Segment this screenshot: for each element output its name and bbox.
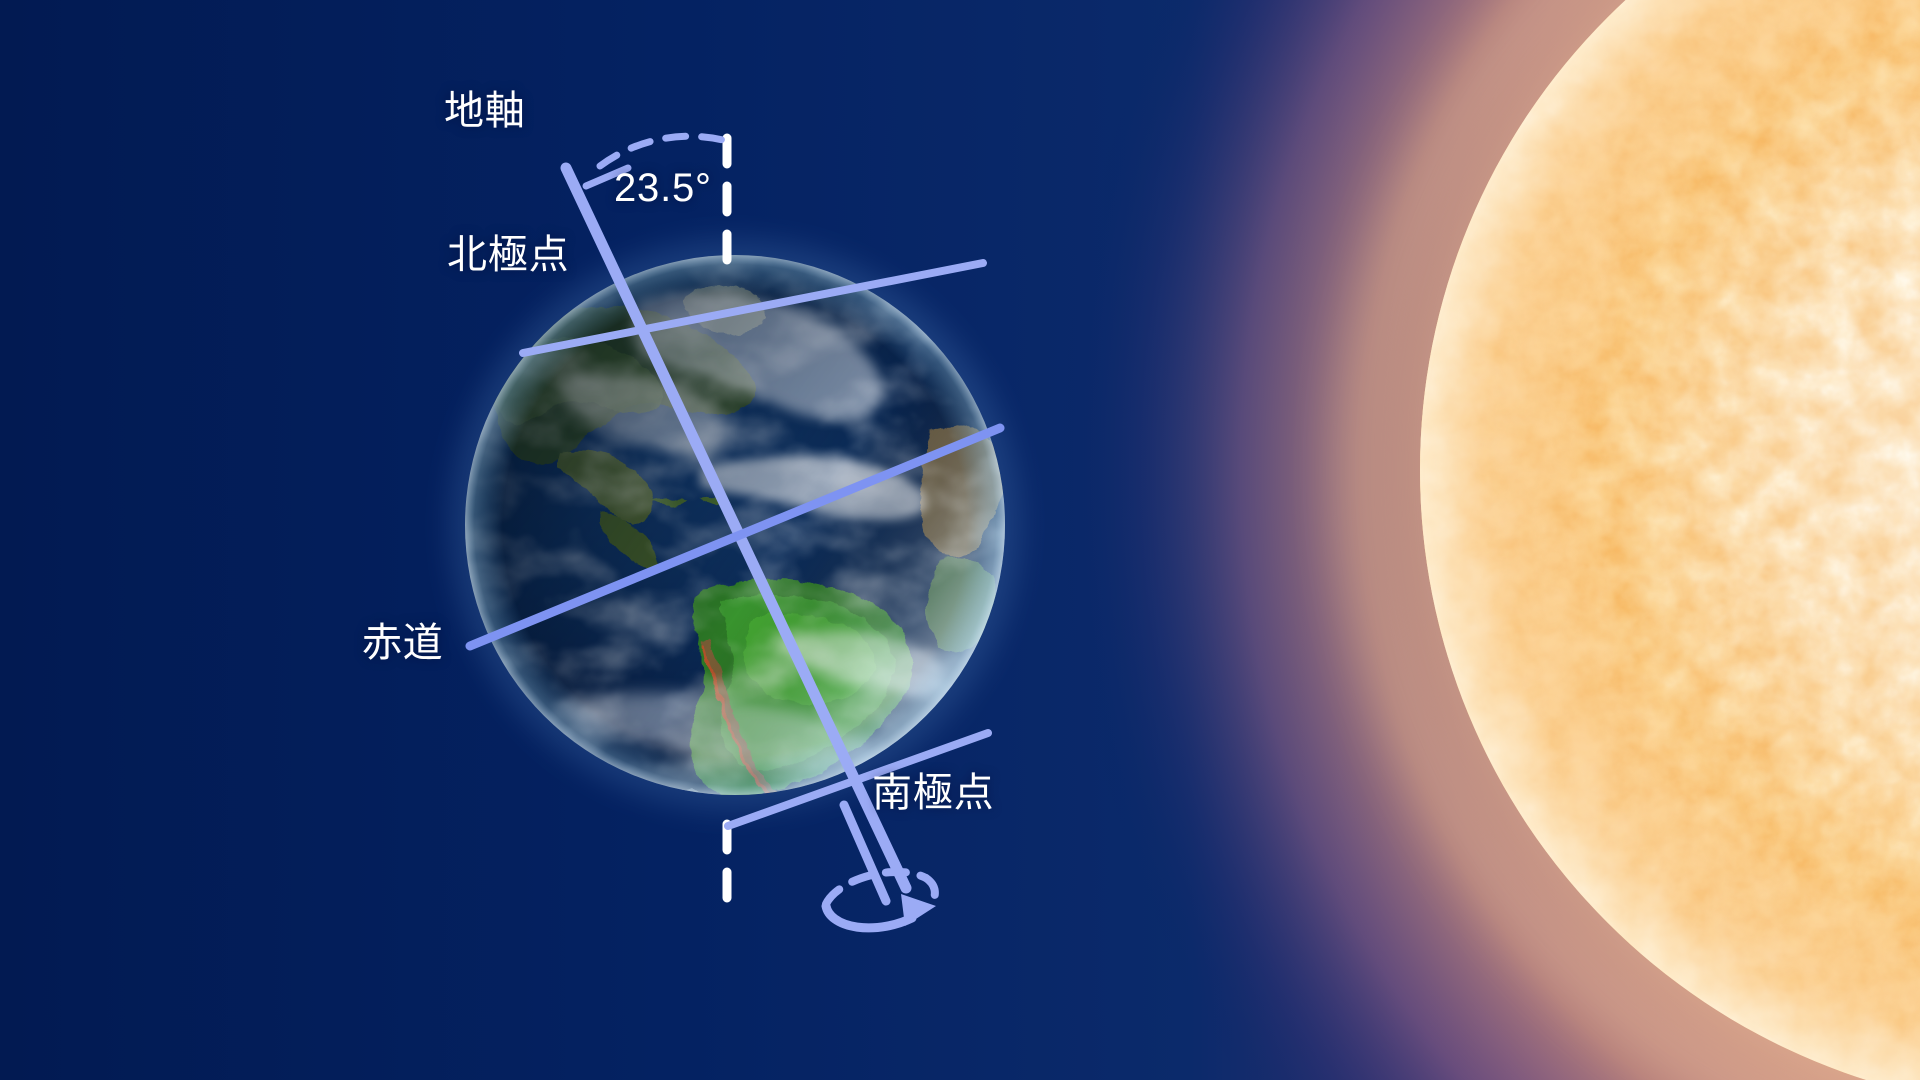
annotation-layer (0, 0, 1920, 1080)
label-south-pole: 南極点 (872, 760, 994, 818)
rotation-arrowhead-icon (901, 894, 936, 926)
equator-line (470, 428, 1000, 646)
label-equator: 赤道 (362, 610, 444, 668)
rotation-direction-arrow[interactable] (826, 906, 912, 928)
arctic-circle-line (523, 263, 983, 353)
tilt-angle-arc (600, 136, 723, 166)
south-pole-leader-line (844, 805, 886, 901)
label-earth-axis: 地軸 (444, 78, 526, 136)
label-north-pole: 北極点 (447, 222, 569, 280)
diagram-canvas: 地軸 23.5° 北極点 赤道 南極点 (0, 0, 1920, 1080)
rotation-ellipse-back-2 (926, 878, 935, 906)
label-tilt-angle: 23.5° (614, 166, 712, 211)
